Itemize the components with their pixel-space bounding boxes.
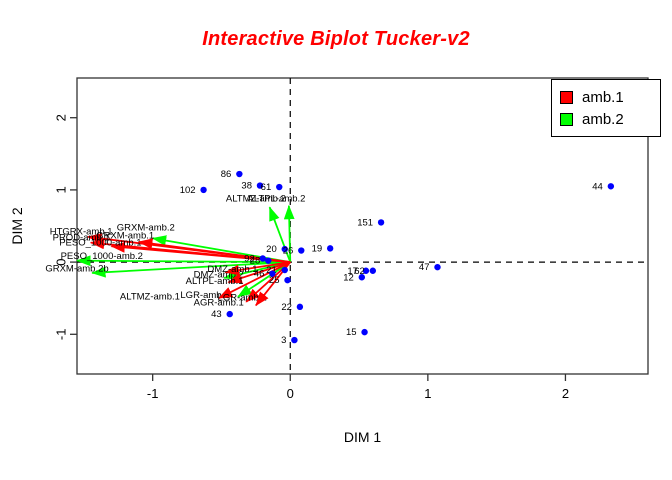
- loading-vector-label: PESO_1000-amb.2: [61, 251, 143, 262]
- data-point-label: 61: [261, 182, 272, 193]
- data-point-label: 102: [180, 185, 196, 196]
- y-tick-label: 1: [54, 186, 69, 193]
- data-point: [200, 187, 206, 193]
- data-point: [276, 184, 282, 190]
- data-point-label: 26: [283, 246, 294, 257]
- data-point-label: 3: [281, 335, 286, 346]
- data-point: [236, 171, 242, 177]
- loading-vector-label: ALTPL-amb.1: [186, 276, 244, 287]
- legend-swatch-icon: [560, 91, 573, 104]
- data-point-label: 28: [250, 256, 261, 267]
- data-point: [291, 337, 297, 343]
- loading-vector-label: ALTMZ-amb.1: [120, 292, 180, 303]
- y-axis-title: DIM 2: [9, 207, 25, 245]
- data-point: [370, 268, 376, 274]
- data-point: [608, 183, 614, 189]
- data-point-label: 47: [419, 262, 430, 273]
- data-point: [297, 304, 303, 310]
- data-point: [359, 274, 365, 280]
- data-point: [227, 311, 233, 317]
- x-tick-label: -1: [147, 386, 159, 401]
- data-point: [265, 257, 271, 263]
- data-point-label: 44: [592, 181, 603, 192]
- legend-item[interactable]: amb.1: [560, 86, 652, 108]
- data-point-label: 15: [346, 327, 357, 338]
- loading-vector-label: AGR-amb.1: [194, 297, 244, 308]
- data-point-label: 19: [312, 243, 323, 254]
- x-tick-label: 1: [424, 386, 431, 401]
- data-point-label: 22: [281, 302, 292, 313]
- data-point-label: 46: [254, 269, 265, 280]
- data-point-label: 12: [343, 272, 354, 283]
- data-point: [378, 219, 384, 225]
- legend-label: amb.1: [582, 89, 624, 106]
- y-tick-label: -1: [54, 329, 69, 341]
- data-point: [434, 264, 440, 270]
- data-point: [269, 270, 275, 276]
- data-point-label: 86: [221, 169, 232, 180]
- x-tick-label: 0: [287, 386, 294, 401]
- y-tick-label: 2: [54, 114, 69, 121]
- legend-label: amb.2: [582, 111, 624, 128]
- data-point: [298, 247, 304, 253]
- biplot-chart[interactable]: -1012-1012 GRXM-amb.2ALTMZ-amb.2ALTPL-am…: [0, 0, 672, 480]
- biplot-page: Interactive Biplot Tucker-v2 -1012-1012 …: [0, 0, 672, 480]
- data-point-label: 43: [211, 309, 222, 320]
- data-point: [361, 329, 367, 335]
- data-point-label: 20: [266, 244, 277, 255]
- x-tick-label: 2: [562, 386, 569, 401]
- data-point-label: 38: [241, 181, 252, 192]
- data-point-label: 151: [357, 217, 373, 228]
- x-axis-title: DIM 1: [344, 429, 382, 445]
- loading-vector-label: ALTPL-amb.2: [248, 193, 306, 204]
- chart-legend[interactable]: amb.1amb.2: [551, 79, 661, 137]
- data-point: [260, 255, 266, 261]
- data-point-label: 25: [269, 275, 280, 286]
- loading-vector-label: GRXM-amb.1: [96, 230, 154, 241]
- data-point: [284, 277, 290, 283]
- legend-swatch-icon: [560, 113, 573, 126]
- legend-item[interactable]: amb.2: [560, 108, 652, 130]
- data-point: [282, 267, 288, 273]
- loading-vector-label: GRXM-amb.2b: [45, 263, 108, 274]
- data-point: [327, 245, 333, 251]
